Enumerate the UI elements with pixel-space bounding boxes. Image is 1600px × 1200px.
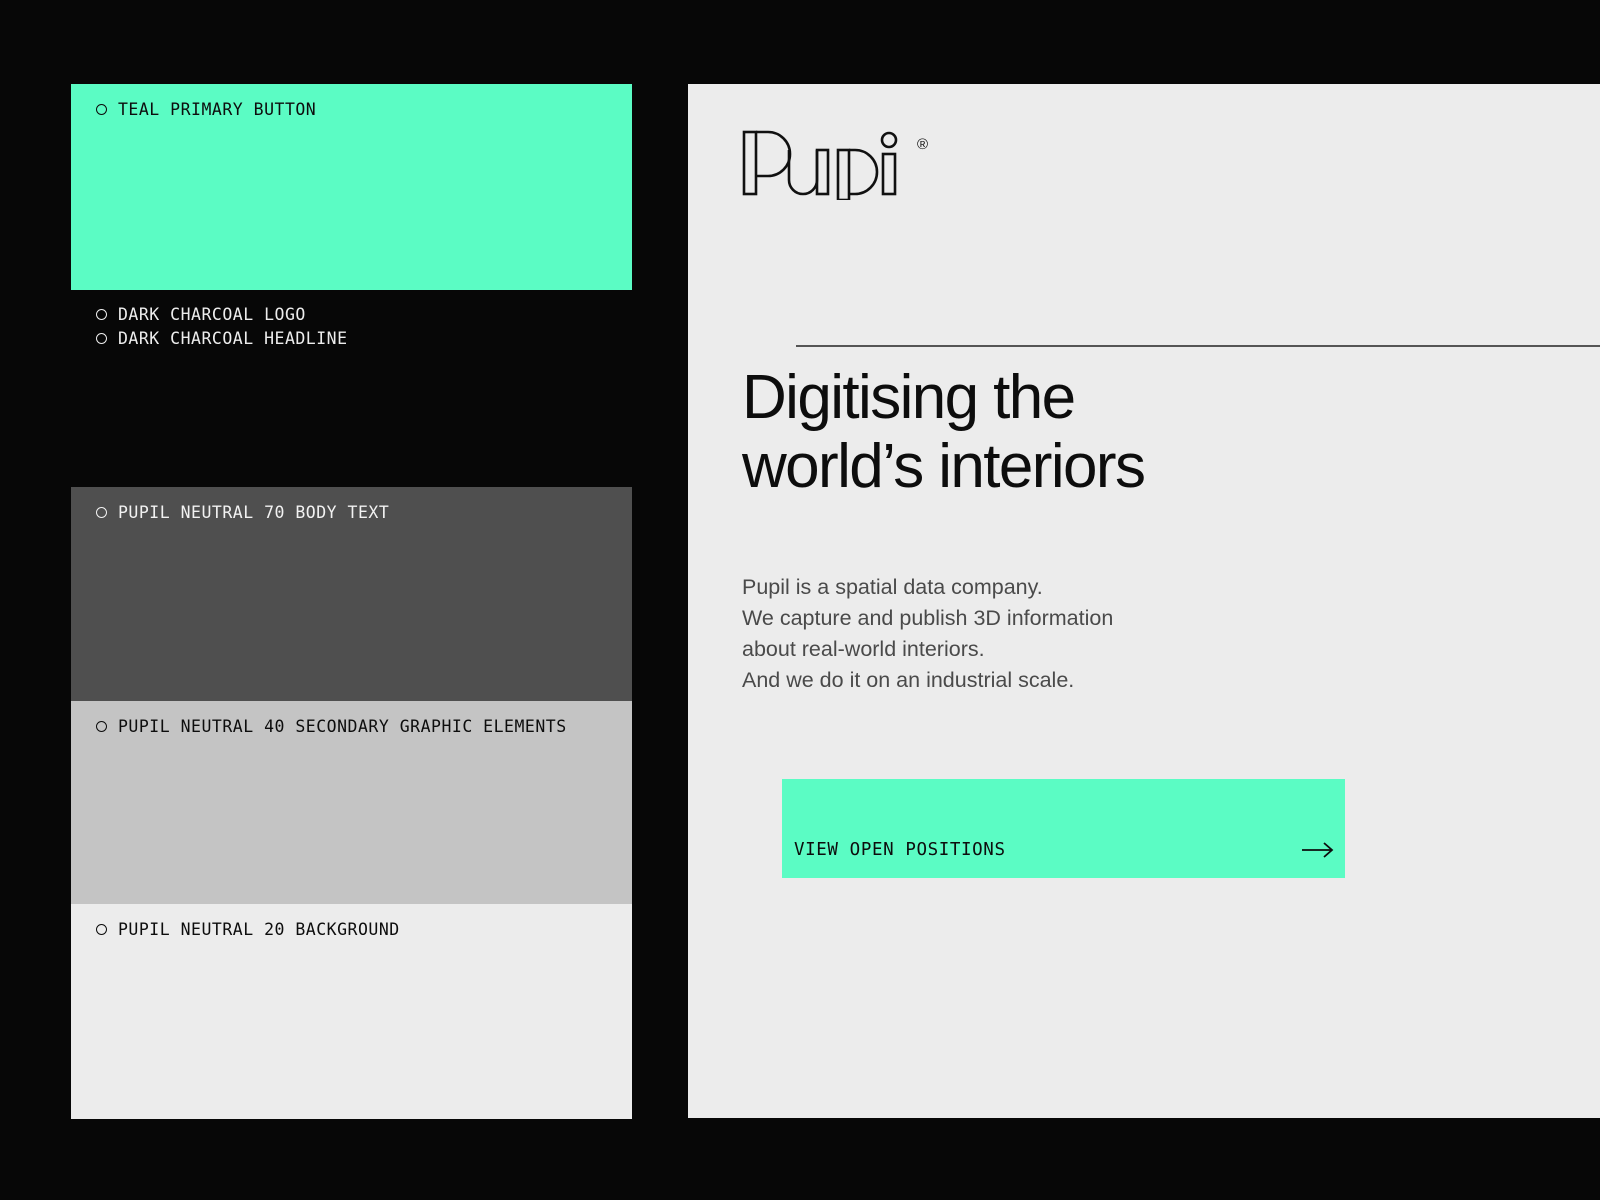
hero-body-copy: Pupil is a spatial data company. We capt… (742, 572, 1113, 696)
swatch-pupil-neutral-40: PUPIL NEUTRAL 40 SECONDARY GRAPHIC ELEME… (71, 701, 632, 904)
hero-content: ® Digitising the world’s interiors Pupil… (742, 84, 1600, 1118)
body-line: about real-world interiors. (742, 634, 1113, 665)
circle-outline-icon (96, 507, 107, 518)
swatch-label: PUPIL NEUTRAL 40 SECONDARY GRAPHIC ELEME… (96, 717, 567, 736)
swatch-teal-primary-button: TEAL PRIMARY BUTTON (71, 84, 632, 290)
hero-divider (796, 345, 1600, 347)
list-item: DARK CHARCOAL LOGO (96, 302, 348, 326)
circle-outline-icon (96, 104, 107, 115)
dark-row-label: DARK CHARCOAL LOGO (118, 305, 306, 324)
swatch-label-text: TEAL PRIMARY BUTTON (118, 100, 316, 119)
color-swatch-column: TEAL PRIMARY BUTTON (71, 84, 632, 290)
body-line: And we do it on an industrial scale. (742, 665, 1113, 696)
circle-outline-icon (96, 309, 107, 320)
dark-charcoal-usage-list: DARK CHARCOAL LOGO DARK CHARCOAL HEADLIN… (96, 302, 348, 350)
page-title: Digitising the world’s interiors (742, 363, 1144, 502)
swatch-label: PUPIL NEUTRAL 70 BODY TEXT (96, 503, 389, 522)
swatch-label-text: PUPIL NEUTRAL 20 BACKGROUND (118, 920, 400, 939)
view-open-positions-button[interactable]: VIEW OPEN POSITIONS (782, 779, 1345, 878)
swatch-label-text: PUPIL NEUTRAL 70 BODY TEXT (118, 503, 389, 522)
arrow-right-icon (1301, 839, 1335, 861)
dark-row-label: DARK CHARCOAL HEADLINE (118, 329, 348, 348)
hero-preview-panel: ® Digitising the world’s interiors Pupil… (688, 84, 1600, 1118)
list-item: DARK CHARCOAL HEADLINE (96, 326, 348, 350)
circle-outline-icon (96, 333, 107, 344)
circle-outline-icon (96, 924, 107, 935)
swatch-pupil-neutral-70: PUPIL NEUTRAL 70 BODY TEXT (71, 487, 632, 701)
body-line: Pupil is a spatial data company. (742, 572, 1113, 603)
cta-label: VIEW OPEN POSITIONS (794, 840, 1006, 860)
pupil-outline-wordmark-icon (742, 128, 914, 200)
circle-outline-icon (96, 721, 107, 732)
headline-line-2: world’s interiors (742, 432, 1144, 501)
swatch-label-text: PUPIL NEUTRAL 40 SECONDARY GRAPHIC ELEME… (118, 717, 567, 736)
swatch-pupil-neutral-20: PUPIL NEUTRAL 20 BACKGROUND (71, 904, 632, 1119)
headline-line-1: Digitising the (742, 363, 1075, 432)
neutral-swatch-group: PUPIL NEUTRAL 70 BODY TEXT PUPIL NEUTRAL… (71, 487, 632, 1119)
swatch-label: PUPIL NEUTRAL 20 BACKGROUND (96, 920, 400, 939)
pupil-logo[interactable]: ® (742, 128, 928, 200)
registered-trademark-symbol: ® (917, 136, 928, 153)
brand-style-guide-canvas: TEAL PRIMARY BUTTON DARK CHARCOAL LOGO D… (0, 0, 1600, 1200)
body-line: We capture and publish 3D information (742, 603, 1113, 634)
swatch-label: TEAL PRIMARY BUTTON (96, 100, 316, 119)
